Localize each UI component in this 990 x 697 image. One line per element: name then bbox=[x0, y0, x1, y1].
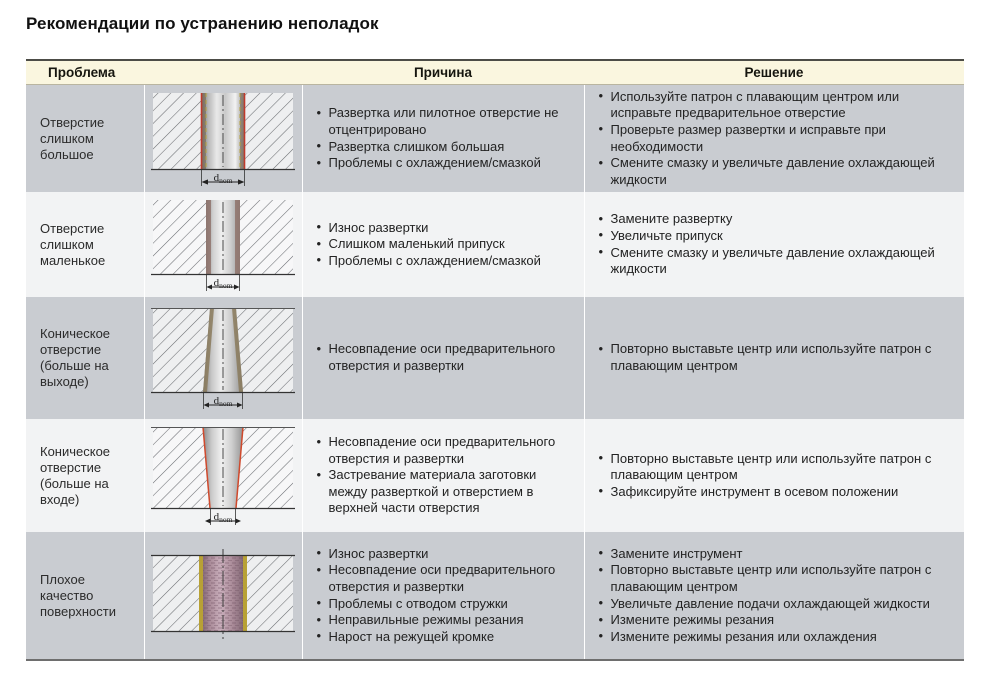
cell-diagram: dnom bbox=[144, 85, 302, 193]
dimension-label: dnom bbox=[214, 395, 233, 408]
cause-list: Несовпадение оси предварительного отверс… bbox=[303, 341, 584, 374]
column-header-cause: Причина bbox=[302, 60, 584, 85]
cell-problem: Плохое качество поверхности bbox=[26, 532, 144, 660]
cause-item: Проблемы с отводом стружки bbox=[317, 596, 576, 613]
bore-taper-entry-icon: dnom bbox=[148, 424, 298, 530]
bore-rough-surface-icon bbox=[148, 547, 298, 647]
cell-solution: Повторно выставьте центр или используйте… bbox=[584, 419, 964, 532]
bore-straight-undersize-icon: dnom bbox=[148, 197, 298, 295]
problem-label: Плохое качество поверхности bbox=[26, 572, 144, 620]
solution-item: Измените режимы резания bbox=[599, 612, 957, 629]
cause-item: Износ развертки bbox=[317, 546, 576, 563]
dimension-label: dnom bbox=[214, 172, 233, 185]
solution-item: Измените режимы резания или охлаждения bbox=[599, 629, 957, 646]
cause-item: Развертка или пилотное отверстие не отце… bbox=[317, 105, 576, 138]
troubleshooting-table: Проблема Причина Решение Отверстие слишк… bbox=[26, 59, 964, 661]
bore-rough-surface-diagram bbox=[145, 542, 302, 649]
solution-list: Замените инструмент Повторно выставьте ц… bbox=[585, 546, 965, 646]
cell-cause: Износ развертки Несовпадение оси предвар… bbox=[302, 532, 584, 660]
solution-list: Используйте патрон с плавающим центром и… bbox=[585, 89, 965, 189]
cell-cause: Несовпадение оси предварительного отверс… bbox=[302, 419, 584, 532]
solution-list: Замените развертку Увеличьте припуск Сме… bbox=[585, 211, 965, 277]
bore-taper-exit-diagram: dnom bbox=[145, 300, 302, 417]
table-row: Коническое отверстие (больше на выходе) bbox=[26, 297, 964, 419]
solution-list: Повторно выставьте центр или используйте… bbox=[585, 341, 965, 374]
table-row: Отверстие слишком большое bbox=[26, 85, 964, 193]
table-header: Проблема Причина Решение bbox=[26, 60, 964, 85]
cell-diagram: dnom bbox=[144, 297, 302, 419]
problem-label: Коническое отверстие (больше на выходе) bbox=[26, 326, 144, 390]
solution-item: Смените смазку и увеличьте давление охла… bbox=[599, 155, 957, 188]
dimension-label: dnom bbox=[214, 511, 233, 524]
dimension-label: dnom bbox=[214, 277, 233, 290]
column-header-problem: Проблема bbox=[26, 60, 302, 85]
cause-item: Слишком маленький припуск bbox=[317, 236, 576, 253]
table-row: Коническое отверстие (больше на входе) bbox=[26, 419, 964, 532]
cell-solution: Замените инструмент Повторно выставьте ц… bbox=[584, 532, 964, 660]
cell-problem: Коническое отверстие (больше на выходе) bbox=[26, 297, 144, 419]
column-header-solution: Решение bbox=[584, 60, 964, 85]
cause-list: Несовпадение оси предварительного отверс… bbox=[303, 434, 584, 517]
bore-straight-undersize-diagram: dnom bbox=[145, 192, 302, 297]
cell-problem: Отверстие слишком большое bbox=[26, 85, 144, 193]
cell-diagram bbox=[144, 532, 302, 660]
bore-taper-exit-icon: dnom bbox=[148, 305, 298, 415]
cell-diagram: dnom bbox=[144, 192, 302, 297]
solution-item: Увеличьте давление подачи охлаждающей жи… bbox=[599, 596, 957, 613]
solution-item: Замените развертку bbox=[599, 211, 957, 228]
solution-item: Смените смазку и увеличьте давление охла… bbox=[599, 245, 957, 278]
cell-solution: Используйте патрон с плавающим центром и… bbox=[584, 85, 964, 193]
table-row: Плохое качество поверхности bbox=[26, 532, 964, 660]
bore-straight-oversize-diagram: dnom bbox=[145, 85, 302, 192]
cell-cause: Несовпадение оси предварительного отверс… bbox=[302, 297, 584, 419]
solution-item: Повторно выставьте центр или используйте… bbox=[599, 451, 957, 484]
cause-item: Несовпадение оси предварительного отверс… bbox=[317, 341, 576, 374]
cell-diagram: dnom bbox=[144, 419, 302, 532]
solution-item: Повторно выставьте центр или используйте… bbox=[599, 341, 957, 374]
solution-item: Зафиксируйте инструмент в осевом положен… bbox=[599, 484, 957, 501]
cell-cause: Развертка или пилотное отверстие не отце… bbox=[302, 85, 584, 193]
solution-item: Увеличьте припуск bbox=[599, 228, 957, 245]
solution-list: Повторно выставьте центр или используйте… bbox=[585, 451, 965, 501]
problem-label: Коническое отверстие (больше на входе) bbox=[26, 444, 144, 508]
table-row: Отверстие слишком маленькое bbox=[26, 192, 964, 297]
cause-list: Развертка или пилотное отверстие не отце… bbox=[303, 105, 584, 171]
troubleshooting-table-wrapper: Проблема Причина Решение Отверстие слишк… bbox=[26, 59, 964, 661]
cell-solution: Повторно выставьте центр или используйте… bbox=[584, 297, 964, 419]
solution-item: Повторно выставьте центр или используйте… bbox=[599, 562, 957, 595]
table-body: Отверстие слишком большое bbox=[26, 85, 964, 661]
problem-label: Отверстие слишком большое bbox=[26, 115, 144, 163]
page-root: Рекомендации по устранению неполадок Про… bbox=[0, 0, 990, 697]
cause-item: Проблемы с охлаждением/смазкой bbox=[317, 253, 576, 270]
bore-taper-entry-diagram: dnom bbox=[145, 419, 302, 532]
cause-item: Развертка слишком большая bbox=[317, 139, 576, 156]
cause-item: Несовпадение оси предварительного отверс… bbox=[317, 434, 576, 467]
cell-problem: Отверстие слишком маленькое bbox=[26, 192, 144, 297]
page-title: Рекомендации по устранению неполадок bbox=[26, 14, 379, 34]
solution-item: Проверьте размер развертки и исправьте п… bbox=[599, 122, 957, 155]
cause-item: Неправильные режимы резания bbox=[317, 612, 576, 629]
bore-straight-oversize-icon: dnom bbox=[148, 90, 298, 190]
cause-item: Несовпадение оси предварительного отверс… bbox=[317, 562, 576, 595]
cause-list: Износ развертки Несовпадение оси предвар… bbox=[303, 546, 584, 646]
solution-item: Используйте патрон с плавающим центром и… bbox=[599, 89, 957, 122]
cause-list: Износ развертки Слишком маленький припус… bbox=[303, 220, 584, 270]
solution-item: Замените инструмент bbox=[599, 546, 957, 563]
cell-solution: Замените развертку Увеличьте припуск Сме… bbox=[584, 192, 964, 297]
cause-item: Проблемы с охлаждением/смазкой bbox=[317, 155, 576, 172]
cell-problem: Коническое отверстие (больше на входе) bbox=[26, 419, 144, 532]
table-header-row: Проблема Причина Решение bbox=[26, 60, 964, 85]
cell-cause: Износ развертки Слишком маленький припус… bbox=[302, 192, 584, 297]
problem-label: Отверстие слишком маленькое bbox=[26, 221, 144, 269]
cause-item: Нарост на режущей кромке bbox=[317, 629, 576, 646]
cause-item: Износ развертки bbox=[317, 220, 576, 237]
cause-item: Застревание материала заготовки между ра… bbox=[317, 467, 576, 517]
